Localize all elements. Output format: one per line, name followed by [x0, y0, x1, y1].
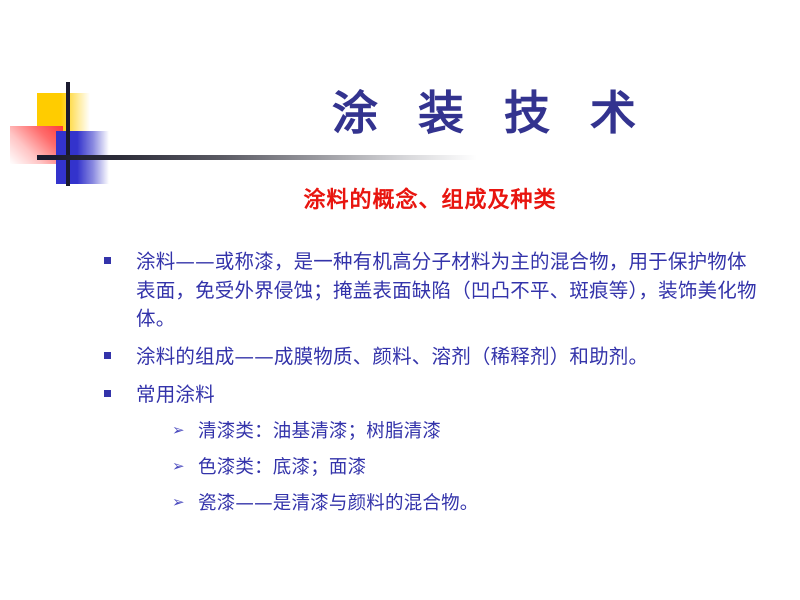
- sub-list-item: ➢ 色漆类：底漆；面漆: [172, 454, 764, 482]
- sub-bullet-text: 清漆类：油基清漆；树脂清漆: [198, 418, 764, 446]
- sub-list-item: ➢ 瓷漆——是清漆与颜料的混合物。: [172, 490, 764, 518]
- presentation-slide: 涂 装 技 术 涂料的概念、组成及种类 涂料——或称漆，是一种有机高分子材料为主…: [0, 0, 800, 600]
- horizontal-bar-icon: [37, 155, 477, 160]
- sub-bullet-text: 色漆类：底漆；面漆: [198, 454, 764, 482]
- list-item: 涂料的组成——成膜物质、颜料、溶剂（稀释剂）和助剂。: [104, 343, 764, 372]
- slide-title: 涂 装 技 术: [280, 88, 700, 139]
- arrow-bullet-icon: ➢: [172, 490, 198, 514]
- bullet-text: 常用涂料: [136, 381, 764, 410]
- square-bullet-icon: [104, 381, 136, 397]
- slide-body: 涂料——或称漆，是一种有机高分子材料为主的混合物，用于保护物体表面，免受外界侵蚀…: [104, 248, 764, 526]
- arrow-bullet-icon: ➢: [172, 418, 198, 442]
- bullet-text: 涂料——或称漆，是一种有机高分子材料为主的混合物，用于保护物体表面，免受外界侵蚀…: [136, 248, 764, 334]
- arrow-bullet-icon: ➢: [172, 454, 198, 478]
- square-bullet-icon: [104, 248, 136, 264]
- list-item: 常用涂料: [104, 381, 764, 410]
- sub-list-item: ➢ 清漆类：油基清漆；树脂清漆: [172, 418, 764, 446]
- slide-subtitle: 涂料的概念、组成及种类: [200, 182, 660, 214]
- vertical-bar-icon: [66, 82, 70, 186]
- sub-bullet-text: 瓷漆——是清漆与颜料的混合物。: [198, 490, 764, 518]
- sub-bullet-list: ➢ 清漆类：油基清漆；树脂清漆 ➢ 色漆类：底漆；面漆 ➢ 瓷漆——是清漆与颜料…: [172, 418, 764, 517]
- bullet-text: 涂料的组成——成膜物质、颜料、溶剂（稀释剂）和助剂。: [136, 343, 764, 372]
- list-item: 涂料——或称漆，是一种有机高分子材料为主的混合物，用于保护物体表面，免受外界侵蚀…: [104, 248, 764, 334]
- square-bullet-icon: [104, 343, 136, 359]
